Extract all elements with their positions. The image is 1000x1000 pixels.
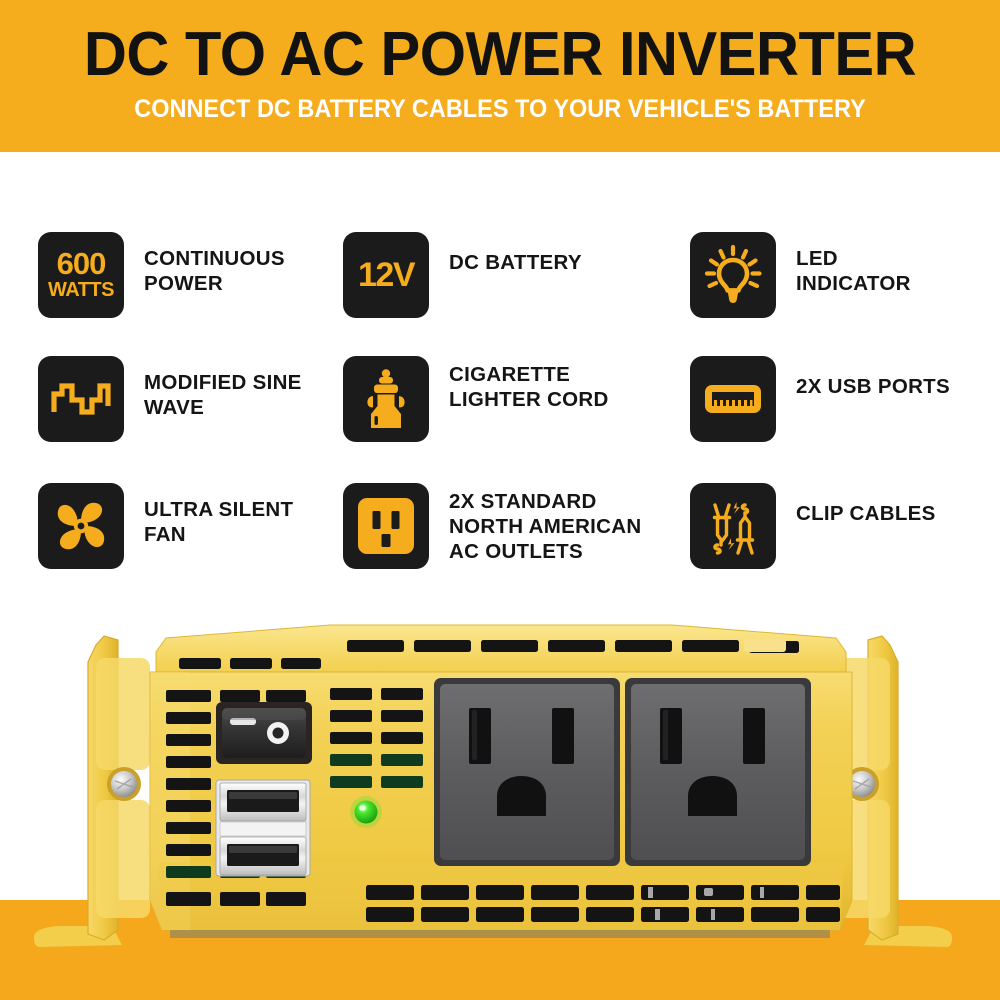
- feature-label-line1: 2X USB PORTS: [796, 374, 950, 399]
- usb-ports-group[interactable]: [216, 780, 310, 876]
- feature-item-usb-ports: 2X USB PORTS: [690, 356, 950, 442]
- cigarette-lighter-plug-icon-svg: [343, 356, 429, 442]
- fan-icon: [38, 483, 124, 569]
- power-rocker-switch[interactable]: [216, 702, 312, 764]
- feature-label-usb-ports: 2X USB PORTS: [796, 374, 950, 399]
- 12v-icon: 12V: [343, 232, 429, 318]
- cigarette-lighter-plug-icon: [343, 356, 429, 442]
- body-base-shadow: [170, 930, 830, 938]
- feature-label-line2: LIGHTER CORD: [449, 387, 609, 412]
- power-on-green-led: [350, 796, 382, 828]
- lightbulb-icon-svg: [690, 232, 776, 318]
- inverter-illustration: [0, 600, 1000, 1000]
- feature-label-line1: CONTINUOUS: [144, 246, 285, 271]
- page-title: DC TO AC POWER INVERTER: [20, 22, 980, 88]
- 600-watts-icon-value: 600: [57, 249, 106, 279]
- page-subtitle: CONNECT DC BATTERY CABLES TO YOUR VEHICL…: [30, 95, 970, 123]
- feature-label-ac-outlets: 2X STANDARD NORTH AMERICAN AC OUTLETS: [449, 489, 641, 564]
- feature-label-line3: AC OUTLETS: [449, 539, 641, 564]
- fan-icon-svg: [38, 483, 124, 569]
- feature-item-cigarette-lighter-cord: CIGARETTE LIGHTER CORD: [343, 356, 609, 442]
- feature-label-line1: 2X STANDARD: [449, 489, 641, 514]
- 600-watts-icon: 600 WATTS: [38, 232, 124, 318]
- feature-label-line1: LED: [796, 246, 911, 271]
- feature-label-line2: WAVE: [144, 395, 302, 420]
- feature-label-ultra-silent-fan: ULTRA SILENT FAN: [144, 497, 293, 547]
- feature-label-continuous-power: CONTINUOUS POWER: [144, 246, 285, 296]
- feature-label-led-indicator: LED INDICATOR: [796, 246, 911, 296]
- feature-item-led-indicator: LED INDICATOR: [690, 232, 911, 318]
- ac-outlet-icon-svg: [343, 483, 429, 569]
- feature-item-ac-outlets: 2X STANDARD NORTH AMERICAN AC OUTLETS: [343, 483, 641, 569]
- feature-label-clip-cables: CLIP CABLES: [796, 501, 936, 526]
- feature-label-line2: POWER: [144, 271, 285, 296]
- feature-label-line1: CLIP CABLES: [796, 501, 936, 526]
- clip-cables-icon: [690, 483, 776, 569]
- feature-label-cigarette-lighter-cord: CIGARETTE LIGHTER CORD: [449, 362, 609, 412]
- feature-item-ultra-silent-fan: ULTRA SILENT FAN: [38, 483, 293, 569]
- 12v-icon-value: 12V: [358, 258, 414, 292]
- feature-item-clip-cables: CLIP CABLES: [690, 483, 936, 569]
- feature-label-line1: DC BATTERY: [449, 250, 582, 275]
- left-mounting-bracket: [88, 636, 150, 940]
- feature-label-line1: CIGARETTE: [449, 362, 609, 387]
- square-wave-icon: [38, 356, 124, 442]
- feature-label-line2: NORTH AMERICAN: [449, 514, 641, 539]
- feature-label-line1: ULTRA SILENT: [144, 497, 293, 522]
- feature-item-modified-sine-wave: MODIFIED SINE WAVE: [38, 356, 302, 442]
- ac-outlet-left[interactable]: [434, 678, 620, 866]
- feature-label-modified-sine-wave: MODIFIED SINE WAVE: [144, 370, 302, 420]
- feature-grid: 600 WATTS CONTINUOUS POWER 12V DC BATTER…: [0, 200, 1000, 600]
- usb-port-icon: [690, 356, 776, 442]
- feature-item-dc-battery: 12V DC BATTERY: [343, 232, 582, 318]
- feature-label-line2: FAN: [144, 522, 293, 547]
- ac-outlet-right[interactable]: [625, 678, 811, 866]
- usb-port-icon-svg: [690, 356, 776, 442]
- clip-cables-icon-svg: [690, 483, 776, 569]
- top-label-tab: [744, 639, 786, 652]
- lightbulb-icon: [690, 232, 776, 318]
- feature-label-line2: INDICATOR: [796, 271, 911, 296]
- feature-label-dc-battery: DC BATTERY: [449, 250, 582, 275]
- feature-item-continuous-power: 600 WATTS CONTINUOUS POWER: [38, 232, 285, 318]
- product-photo: [0, 600, 1000, 1000]
- 600-watts-icon-unit: WATTS: [48, 280, 114, 301]
- square-wave-icon-svg: [38, 356, 124, 442]
- ac-outlet-icon: [343, 483, 429, 569]
- header-banner: DC TO AC POWER INVERTER CONNECT DC BATTE…: [0, 0, 1000, 152]
- feature-label-line1: MODIFIED SINE: [144, 370, 302, 395]
